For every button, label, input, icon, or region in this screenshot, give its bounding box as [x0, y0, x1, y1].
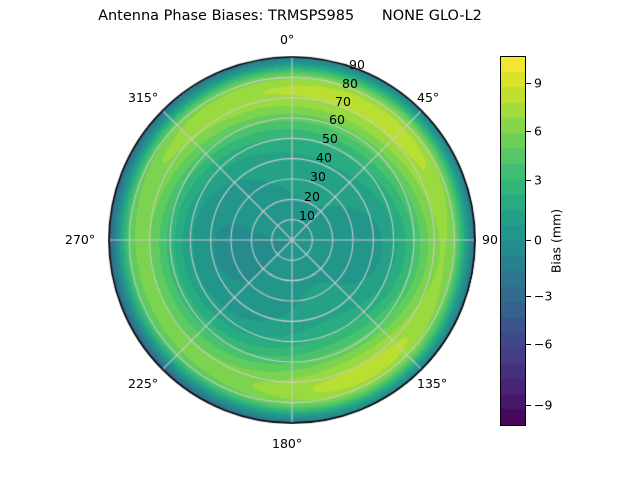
radial-label-10: 10 [299, 208, 315, 223]
angle-label-45: 45° [417, 90, 439, 105]
angle-label-135: 135° [417, 376, 447, 391]
colorbar-tick-0 [526, 240, 531, 241]
polar-heatmap [108, 56, 476, 424]
radial-label-50: 50 [322, 131, 338, 146]
colorbar-ticklabel-9: 9 [534, 76, 542, 91]
colorbar-tick-6 [526, 131, 531, 132]
angle-label-90: 90 [482, 232, 498, 247]
figure-canvas: Antenna Phase Biases: TRMSPS985 NONE GLO… [0, 0, 640, 480]
angle-label-0: 0° [280, 32, 294, 47]
colorbar-tick-3 [526, 180, 531, 181]
colorbar-tick-minus9 [526, 405, 531, 406]
angle-label-270: 270° [65, 232, 95, 247]
colorbar-axis-label: Bias (mm) [549, 209, 564, 273]
radial-label-80: 80 [342, 76, 358, 91]
colorbar-ticklabel-minus3: −3 [534, 289, 552, 304]
polar-axes[interactable]: 0° 45° 90 135° 180° 225° 270° 315° 10 20… [108, 56, 476, 424]
radial-label-20: 20 [304, 189, 320, 204]
colorbar-tick-minus6 [526, 344, 531, 345]
colorbar-ticklabel-minus6: −6 [534, 337, 552, 352]
colorbar-tick-9 [526, 83, 531, 84]
angle-label-180: 180° [272, 436, 302, 451]
colorbar-ticklabel-6: 6 [534, 124, 542, 139]
colorbar-ticklabel-0: 0 [534, 233, 542, 248]
radial-label-40: 40 [316, 150, 332, 165]
angle-label-225: 225° [128, 376, 158, 391]
colorbar-ticklabel-3: 3 [534, 173, 542, 188]
page-title: Antenna Phase Biases: TRMSPS985 NONE GLO… [0, 8, 580, 24]
colorbar-ticklabel-minus9: −9 [534, 398, 552, 413]
radial-label-30: 30 [310, 169, 326, 184]
radial-label-90: 90 [349, 57, 365, 72]
radial-label-70: 70 [335, 94, 351, 109]
radial-label-60: 60 [329, 112, 345, 127]
colorbar-tick-minus3 [526, 296, 531, 297]
angle-label-315: 315° [128, 90, 158, 105]
colorbar-gradient [500, 56, 526, 426]
colorbar[interactable]: 9 6 3 0 −3 −6 −9 [500, 56, 526, 426]
